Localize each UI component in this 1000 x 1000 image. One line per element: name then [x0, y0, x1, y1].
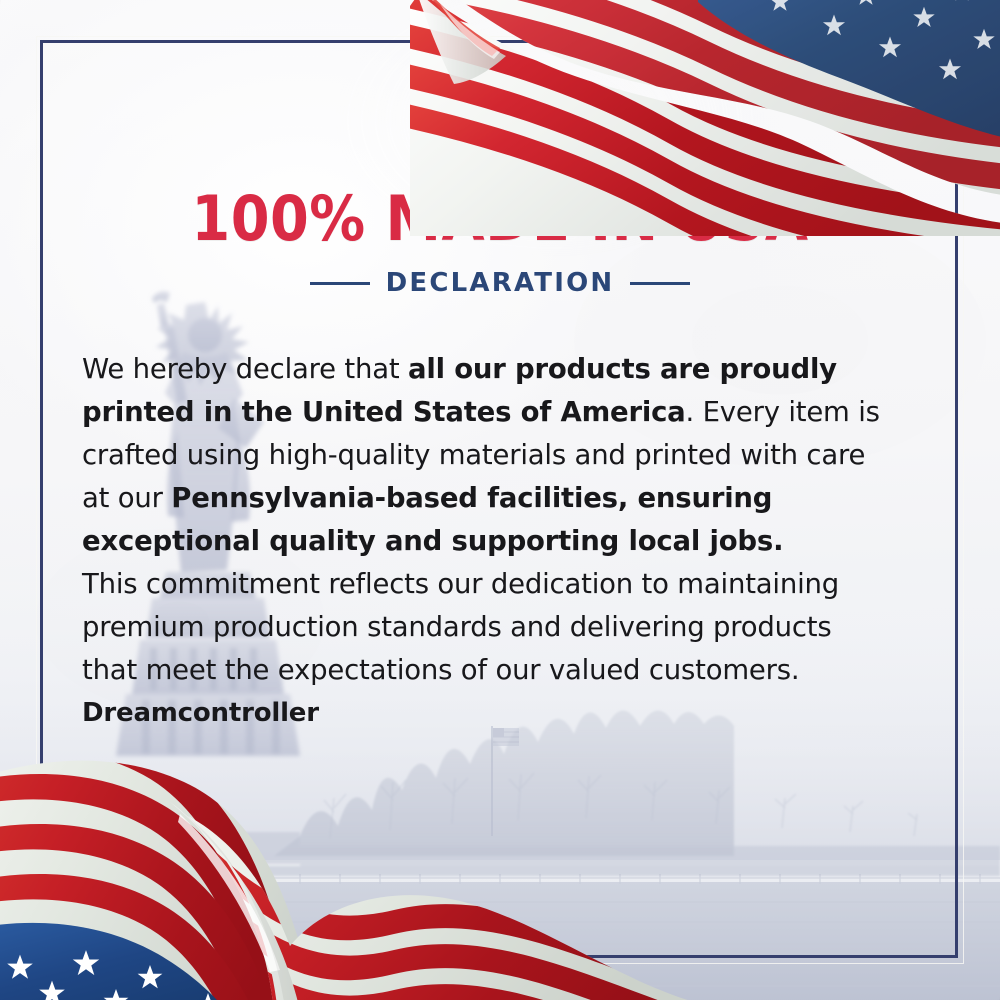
signature-name: Dreamcontroller	[82, 692, 892, 735]
rule-right	[630, 282, 690, 285]
page-title: 100% MADE IN USA	[50, 188, 950, 250]
header-block: 100% MADE IN USA DECLARATION	[0, 118, 1000, 298]
declaration-paragraph-1: We hereby declare that all our products …	[82, 348, 892, 563]
flag-stars-bottom-left	[0, 950, 219, 1000]
island-flagpole-watermark	[491, 726, 519, 836]
flag-fold-edge	[170, 802, 300, 1000]
capitol-dome-icon	[462, 118, 538, 180]
declaration-body: We hereby declare that all our products …	[82, 348, 892, 735]
flag-ribbon-tail	[174, 806, 694, 1000]
subtitle-row: DECLARATION	[0, 268, 1000, 298]
american-flag-bottom-left	[0, 716, 694, 1000]
rule-left	[310, 282, 370, 285]
made-in-usa-declaration-poster: 100% MADE IN USA DECLARATION We hereby d…	[0, 0, 1000, 1000]
flag-stars-top-right	[718, 0, 1000, 79]
page-subtitle: DECLARATION	[386, 268, 615, 298]
pier-railing-watermark	[0, 874, 1000, 884]
flag-panel-main	[0, 724, 354, 1000]
declaration-paragraph-2: This commitment reflects our dedication …	[82, 563, 892, 692]
flag-furl-edge-left	[416, 0, 506, 84]
